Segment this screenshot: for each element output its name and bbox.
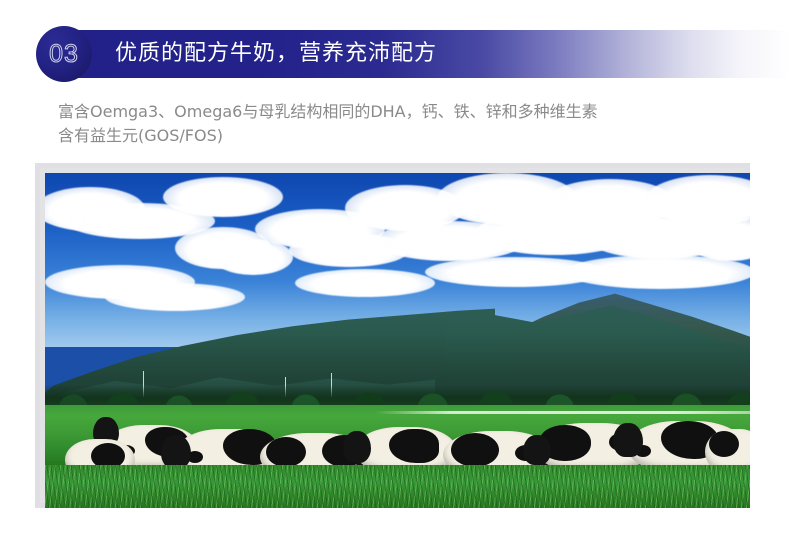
cloud	[295, 269, 435, 297]
cow-patch	[389, 429, 439, 463]
fence-line	[375, 411, 750, 414]
cow-head	[523, 435, 551, 465]
section-number-badge: 03	[36, 26, 92, 82]
cow-head	[613, 423, 643, 457]
cloud	[163, 177, 283, 217]
cow-patch	[266, 437, 306, 467]
cloud	[565, 255, 750, 289]
foreground-grass	[45, 465, 750, 508]
description-block: 富含Oemga3、Omega6与母乳结构相同的DHA，钙、铁、锌和多种维生素 含…	[58, 100, 778, 148]
cow-head	[161, 435, 191, 469]
cloud	[105, 283, 245, 311]
cow-patch	[451, 433, 499, 467]
description-line-1: 富含Oemga3、Omega6与母乳结构相同的DHA，钙、铁、锌和多种维生素	[58, 100, 778, 124]
section-number-label: 03	[36, 26, 92, 82]
cow-head	[343, 431, 371, 463]
photo-frame	[35, 163, 750, 508]
pasture-photo	[45, 173, 750, 508]
header-banner: 03 优质的配方牛奶，营养充沛配方	[0, 30, 790, 78]
description-line-2: 含有益生元(GOS/FOS)	[58, 124, 778, 148]
section-title: 优质的配方牛奶，营养充沛配方	[115, 30, 437, 78]
cow-patch	[709, 431, 739, 457]
